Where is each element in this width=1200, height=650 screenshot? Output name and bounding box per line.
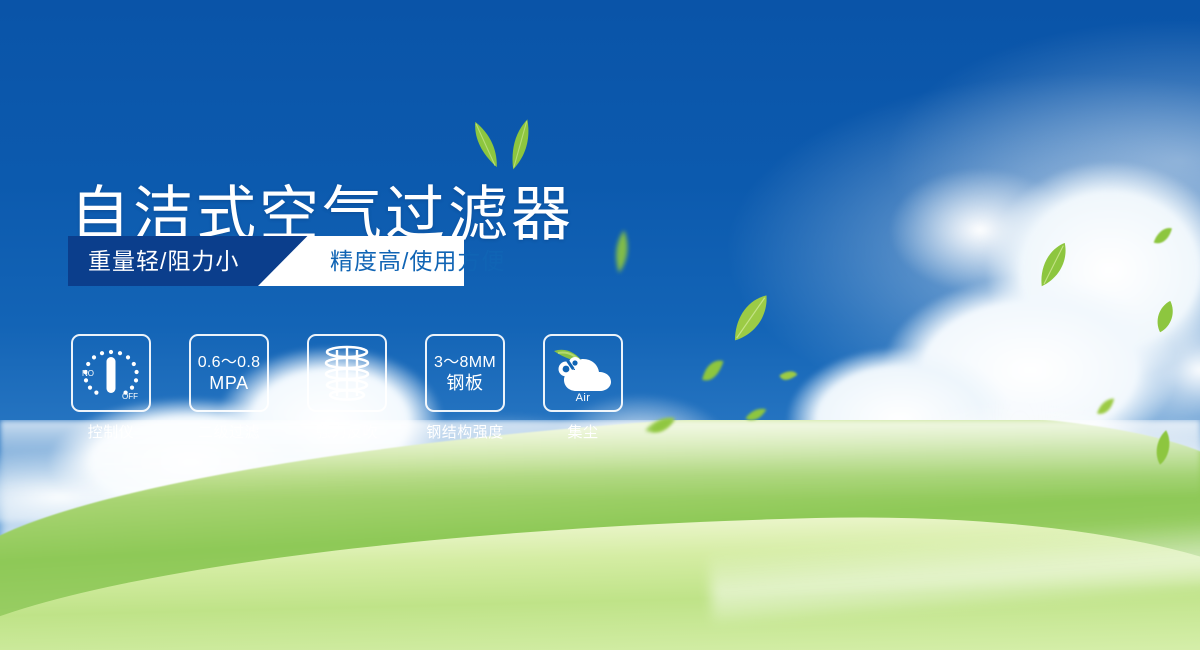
feature-list: NO OFF 控制仪 0.6～0.8 MPA 二级过滤	[70, 334, 624, 442]
feature-label: 强力反吹	[316, 421, 378, 442]
tagline-right-text: 精度高/使用方便	[330, 236, 505, 286]
svg-text:NO: NO	[82, 369, 94, 378]
tagline-left-text: 重量轻/阻力小	[88, 236, 239, 286]
feature-label: 集尘	[567, 421, 598, 442]
feature-item-two-stage-filter[interactable]: 0.6～0.8 MPA 二级过滤	[188, 334, 270, 442]
feature-label: 钢结构强度	[426, 421, 504, 442]
air-caption: Air	[552, 392, 614, 404]
svg-text:OFF: OFF	[122, 392, 138, 401]
filter-cartridge-icon	[319, 344, 375, 402]
steel-value-line1: 3～8MM	[434, 353, 496, 373]
dust-cloud-icon: Air	[552, 345, 614, 401]
tagline-bar: 重量轻/阻力小 精度高/使用方便	[68, 236, 464, 286]
feature-icon-box: Air	[543, 334, 623, 412]
feature-item-dust-collection[interactable]: Air 集尘	[542, 334, 624, 442]
banner-content: 自洁式空气过滤器 重量轻/阻力小 精度高/使用方便	[0, 0, 1200, 650]
steel-value-line2: 钢板	[446, 373, 483, 394]
feature-icon-box: 3～8MM 钢板	[425, 334, 505, 412]
feature-label: 控制仪	[88, 421, 135, 442]
feature-item-control-unit[interactable]: NO OFF 控制仪	[70, 334, 152, 442]
feature-icon-box: 0.6～0.8 MPA	[189, 334, 269, 412]
product-banner: 自洁式空气过滤器 重量轻/阻力小 精度高/使用方便	[0, 0, 1200, 650]
feature-icon-box	[307, 334, 387, 412]
pressure-value-line2: MPA	[209, 373, 248, 394]
feature-icon-box: NO OFF	[71, 334, 151, 412]
feature-item-steel-strength[interactable]: 3～8MM 钢板 钢结构强度	[424, 334, 506, 442]
pressure-value-line1: 0.6～0.8	[198, 353, 261, 373]
feature-label: 二级过滤	[198, 421, 260, 442]
gauge-dial-icon: NO OFF	[78, 343, 144, 403]
feature-item-strong-blowback[interactable]: 强力反吹	[306, 334, 388, 442]
